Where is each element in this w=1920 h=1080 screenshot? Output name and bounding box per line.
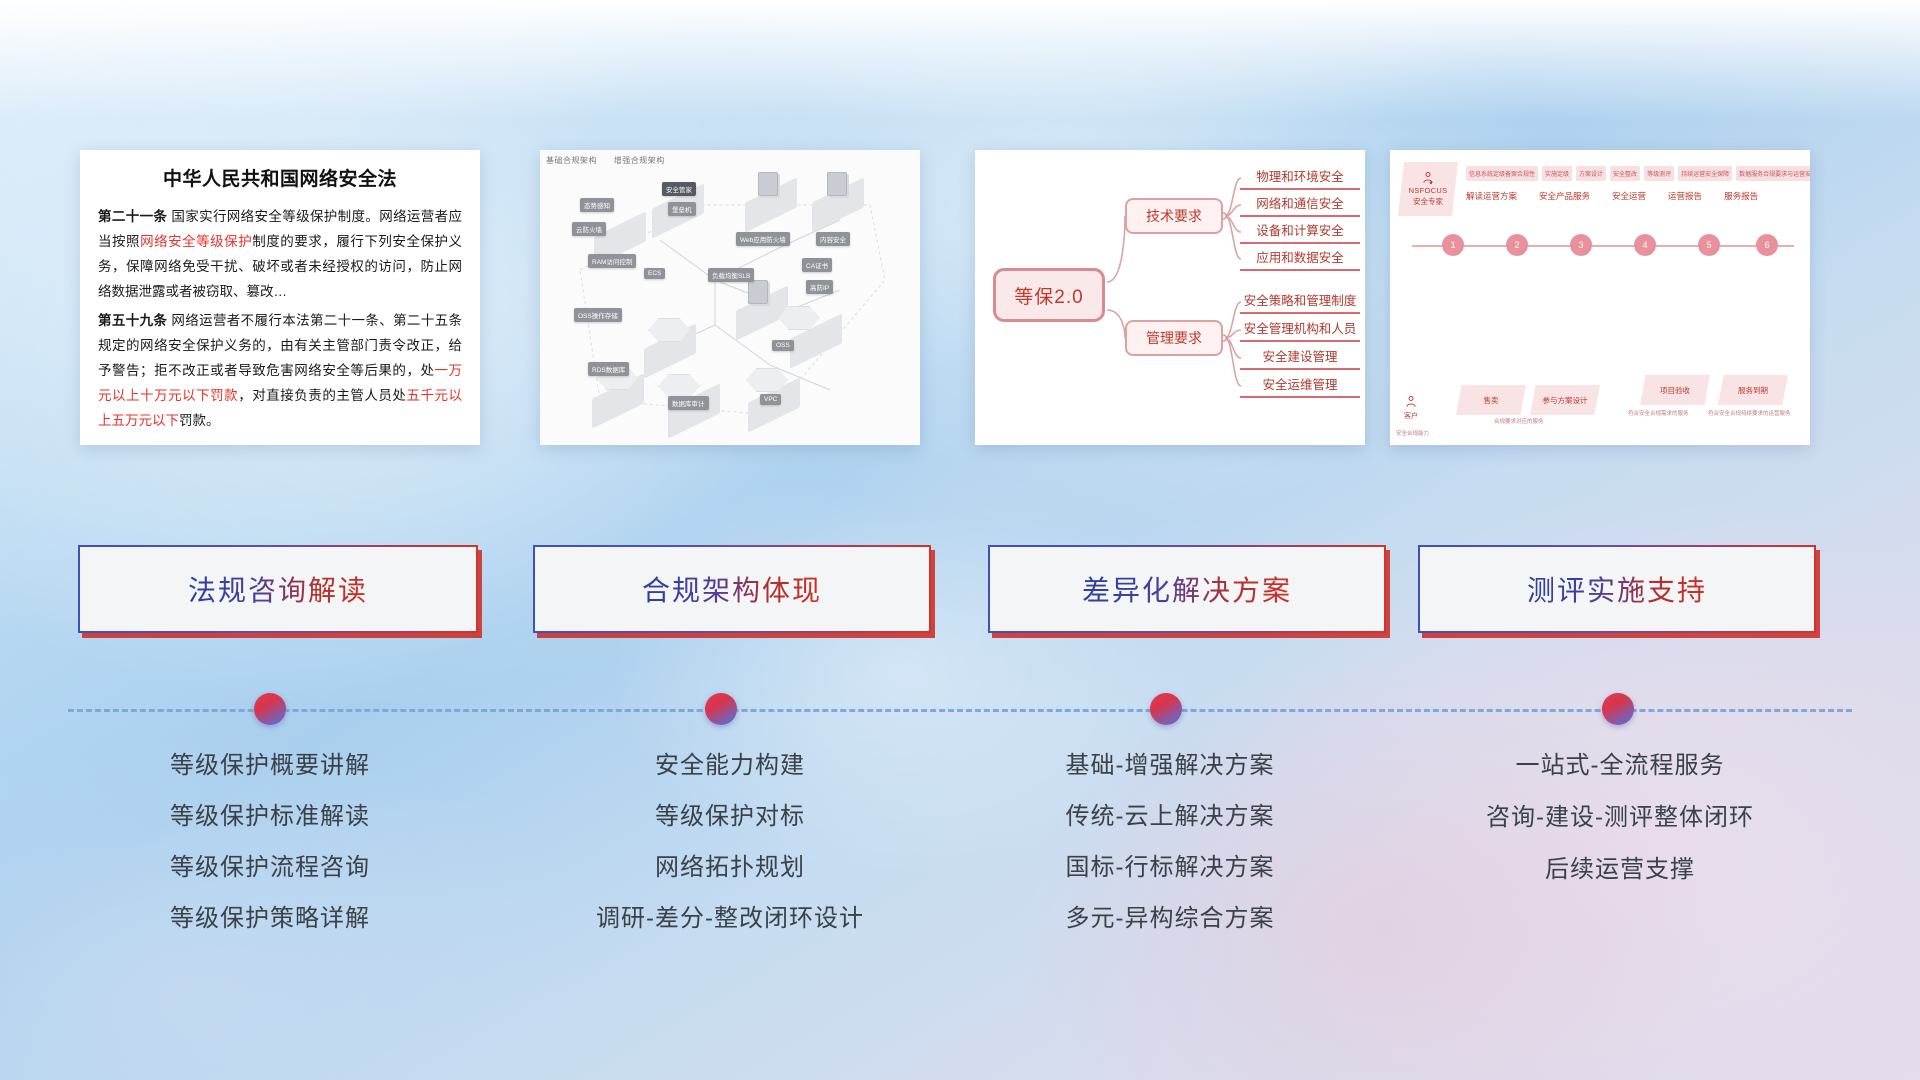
list-item: 后续运营支撑 bbox=[1405, 844, 1835, 896]
detail-list-2: 安全能力构建 等级保护对标 网络拓扑规划 调研-差分-整改闭环设计 bbox=[520, 740, 940, 944]
mindmap-leaf: 物理和环境安全 bbox=[1240, 165, 1360, 190]
architecture-node: 内容安全 bbox=[816, 232, 850, 246]
service-step-dot: 4 bbox=[1634, 234, 1656, 256]
service-footer-sub: 符合安全合规需求的服务 bbox=[1628, 409, 1689, 417]
law-document-body: 中华人民共和国网络安全法 第二十一条 国家实行网络安全等级保护制度。网络运营者应… bbox=[80, 150, 480, 443]
detail-list-3: 基础-增强解决方案 传统-云上解决方案 国标-行标解决方案 多元-异构综合方案 bbox=[955, 740, 1385, 944]
service-step-dot: 6 bbox=[1756, 234, 1778, 256]
list-item: 多元-异构综合方案 bbox=[955, 893, 1385, 944]
architecture-node: OSS操作存储 bbox=[574, 308, 622, 322]
architecture-node: 堡垒机 bbox=[668, 202, 696, 216]
list-item: 国标-行标解决方案 bbox=[955, 842, 1385, 893]
detail-list-4: 一站式-全流程服务 咨询-建设-测评整体闭环 后续运营支撑 bbox=[1405, 740, 1835, 896]
service-section: 服务报告 bbox=[1724, 190, 1758, 202]
list-item: 等级保护流程咨询 bbox=[70, 842, 470, 893]
mindmap-card[interactable]: 等保2.0 技术要求 管理要求 物理和环境安全 网络和通信安全 设备和计算安全 … bbox=[975, 150, 1365, 445]
law-article-21: 第二十一条 国家实行网络安全等级保护制度。网络运营者应当按照网络安全等级保护制度… bbox=[98, 204, 462, 304]
architecture-node: 安全管家 bbox=[662, 182, 696, 196]
stage-box-1[interactable]: 法规咨询解读 bbox=[78, 545, 478, 633]
architecture-node: ECS bbox=[644, 268, 665, 279]
service-customer-label: 客户 bbox=[1404, 411, 1418, 421]
service-step-dot: 3 bbox=[1570, 234, 1592, 256]
mindmap-leaf: 安全策略和管理制度 bbox=[1240, 289, 1360, 314]
list-item: 调研-差分-整改闭环设计 bbox=[520, 893, 940, 944]
timeline-dashed-line bbox=[68, 709, 1852, 712]
mindmap-branch-management: 管理要求 bbox=[1125, 320, 1223, 356]
architecture-node: OSS bbox=[772, 340, 794, 351]
architecture-canvas: 基础合规架构 增强合规架构 bbox=[540, 150, 920, 445]
architecture-node: 高防IP bbox=[806, 280, 833, 294]
list-item: 安全能力构建 bbox=[520, 740, 940, 791]
stage-label-row: 法规咨询解读 合规架构体现 差异化解决方案 测评实施支持 bbox=[0, 545, 1920, 640]
mindmap-leaf: 设备和计算安全 bbox=[1240, 219, 1360, 244]
stage-label-3: 差异化解决方案 bbox=[1082, 569, 1292, 609]
service-timeline-line bbox=[1412, 245, 1794, 247]
detail-list-1: 等级保护概要讲解 等级保护标准解读 等级保护流程咨询 等级保护策略详解 bbox=[70, 740, 470, 944]
nsfocus-expert-badge: NSFOCUS 安全专家 bbox=[1398, 162, 1458, 216]
service-footer-sub: 安全合规能力 bbox=[1396, 429, 1429, 437]
service-footer-sub: 符合安全合规持续要求的运营服务 bbox=[1708, 409, 1791, 417]
service-chip: 方案设计 bbox=[1576, 166, 1606, 181]
mindmap-leaf: 安全运维管理 bbox=[1240, 373, 1360, 398]
stage-box-3[interactable]: 差异化解决方案 bbox=[988, 545, 1386, 633]
service-chip-row: 信息系统定级备案合规性 实施定级 方案设计 安全整改 等级测评 持续运营安全保障… bbox=[1466, 166, 1810, 181]
list-item: 等级保护对标 bbox=[520, 791, 940, 842]
law-article-21-highlight: 网络安全等级保护 bbox=[140, 234, 252, 249]
service-step-dot: 1 bbox=[1442, 234, 1464, 256]
service-customer-block: 客户 bbox=[1404, 395, 1418, 421]
stage-label-2: 合规架构体现 bbox=[642, 569, 822, 609]
service-step-dot: 2 bbox=[1506, 234, 1528, 256]
law-article-59-text-c: 罚款。 bbox=[179, 413, 220, 428]
service-step-dot: 5 bbox=[1698, 234, 1720, 256]
nsfocus-badge-line2: 安全专家 bbox=[1413, 196, 1443, 207]
stage-box-2[interactable]: 合规架构体现 bbox=[533, 545, 931, 633]
service-section: 安全产品服务 bbox=[1539, 190, 1590, 202]
architecture-node: 数据库审计 bbox=[668, 396, 709, 410]
stage-label-4: 测评实施支持 bbox=[1527, 569, 1707, 609]
law-document-card[interactable]: 中华人民共和国网络安全法 第二十一条 国家实行网络安全等级保护制度。网络运营者应… bbox=[80, 150, 480, 445]
service-footer-sub: 合规要求对应的服务 bbox=[1494, 417, 1544, 425]
law-article-59-label: 第五十九条 bbox=[98, 313, 167, 328]
law-article-59: 第五十九条 网络运营者不履行本法第二十一条、第二十五条规定的网络安全保护义务的，… bbox=[98, 308, 462, 433]
mindmap-root-node: 等保2.0 bbox=[993, 268, 1105, 322]
service-chip: 实施定级 bbox=[1542, 166, 1572, 181]
service-section-row: 解读运营方案 安全产品服务 安全运营 运营报告 服务报告 bbox=[1466, 190, 1758, 202]
service-section: 运营报告 bbox=[1668, 190, 1702, 202]
architecture-node: Web应用防火墙 bbox=[736, 232, 790, 246]
service-roadmap-card[interactable]: NSFOCUS 安全专家 信息系统定级备案合规性 实施定级 方案设计 安全整改 … bbox=[1390, 150, 1810, 445]
architecture-node: 云防火墙 bbox=[572, 222, 606, 236]
mindmap-leaf: 安全管理机构和人员 bbox=[1240, 317, 1360, 342]
service-footer-card: 参与方案设计 bbox=[1530, 385, 1600, 415]
timeline-dot-2[interactable] bbox=[705, 693, 737, 725]
list-item: 传统-云上解决方案 bbox=[955, 791, 1385, 842]
stage-label-1: 法规咨询解读 bbox=[188, 569, 368, 609]
expert-person-icon bbox=[1421, 171, 1435, 185]
service-footer-card: 售卖 bbox=[1456, 385, 1526, 415]
service-chip: 信息系统定级备案合规性 bbox=[1466, 166, 1538, 181]
list-item: 咨询-建设-测评整体闭环 bbox=[1405, 792, 1835, 844]
list-item: 一站式-全流程服务 bbox=[1405, 740, 1835, 792]
service-section: 安全运营 bbox=[1612, 190, 1646, 202]
service-chip: 数据服务合规要求与运营安全保障 bbox=[1736, 166, 1810, 181]
mindmap-canvas: 等保2.0 技术要求 管理要求 物理和环境安全 网络和通信安全 设备和计算安全 … bbox=[975, 150, 1365, 445]
preview-card-row: 中华人民共和国网络安全法 第二十一条 国家实行网络安全等级保护制度。网络运营者应… bbox=[0, 150, 1920, 445]
architecture-diagram-card[interactable]: 基础合规架构 增强合规架构 bbox=[540, 150, 920, 445]
list-item: 基础-增强解决方案 bbox=[955, 740, 1385, 791]
nsfocus-badge-line1: NSFOCUS bbox=[1409, 186, 1448, 195]
timeline-dot-4[interactable] bbox=[1602, 693, 1634, 725]
list-item: 等级保护概要讲解 bbox=[70, 740, 470, 791]
list-item: 网络拓扑规划 bbox=[520, 842, 940, 893]
service-chip: 等级测评 bbox=[1644, 166, 1674, 181]
law-article-21-label: 第二十一条 bbox=[98, 209, 167, 224]
mindmap-leaf: 安全建设管理 bbox=[1240, 345, 1360, 370]
architecture-node: CA证书 bbox=[802, 258, 832, 272]
list-item: 等级保护策略详解 bbox=[70, 893, 470, 944]
service-chip: 安全整改 bbox=[1610, 166, 1640, 181]
law-title: 中华人民共和国网络安全法 bbox=[98, 164, 462, 191]
timeline-dot-1[interactable] bbox=[254, 693, 286, 725]
service-roadmap-canvas: NSFOCUS 安全专家 信息系统定级备案合规性 实施定级 方案设计 安全整改 … bbox=[1390, 150, 1810, 445]
architecture-node: VPC bbox=[760, 394, 781, 405]
service-footer-card: 服务到期 bbox=[1718, 375, 1788, 405]
service-section: 解读运营方案 bbox=[1466, 190, 1517, 202]
law-article-59-text-b: ，对直接负责的主管人员处 bbox=[238, 388, 406, 403]
customer-person-icon bbox=[1404, 395, 1418, 409]
service-chip: 持续运营安全保障 bbox=[1678, 166, 1732, 181]
mindmap-leaf: 网络和通信安全 bbox=[1240, 192, 1360, 217]
stage-box-4[interactable]: 测评实施支持 bbox=[1418, 545, 1816, 633]
list-item: 等级保护标准解读 bbox=[70, 791, 470, 842]
mindmap-branch-technical: 技术要求 bbox=[1125, 198, 1223, 234]
detail-list-row: 等级保护概要讲解 等级保护标准解读 等级保护流程咨询 等级保护策略详解 安全能力… bbox=[0, 740, 1920, 960]
service-footer-card: 项目验收 bbox=[1640, 375, 1710, 405]
architecture-node: RDS数据库 bbox=[588, 362, 629, 376]
architecture-node: RAM访问控制 bbox=[588, 254, 636, 268]
architecture-node: 负载均衡SLB bbox=[708, 268, 754, 282]
timeline-dot-3[interactable] bbox=[1150, 693, 1182, 725]
mindmap-leaf: 应用和数据安全 bbox=[1240, 246, 1360, 271]
architecture-node: 态势感知 bbox=[580, 198, 614, 212]
timeline bbox=[0, 690, 1920, 730]
